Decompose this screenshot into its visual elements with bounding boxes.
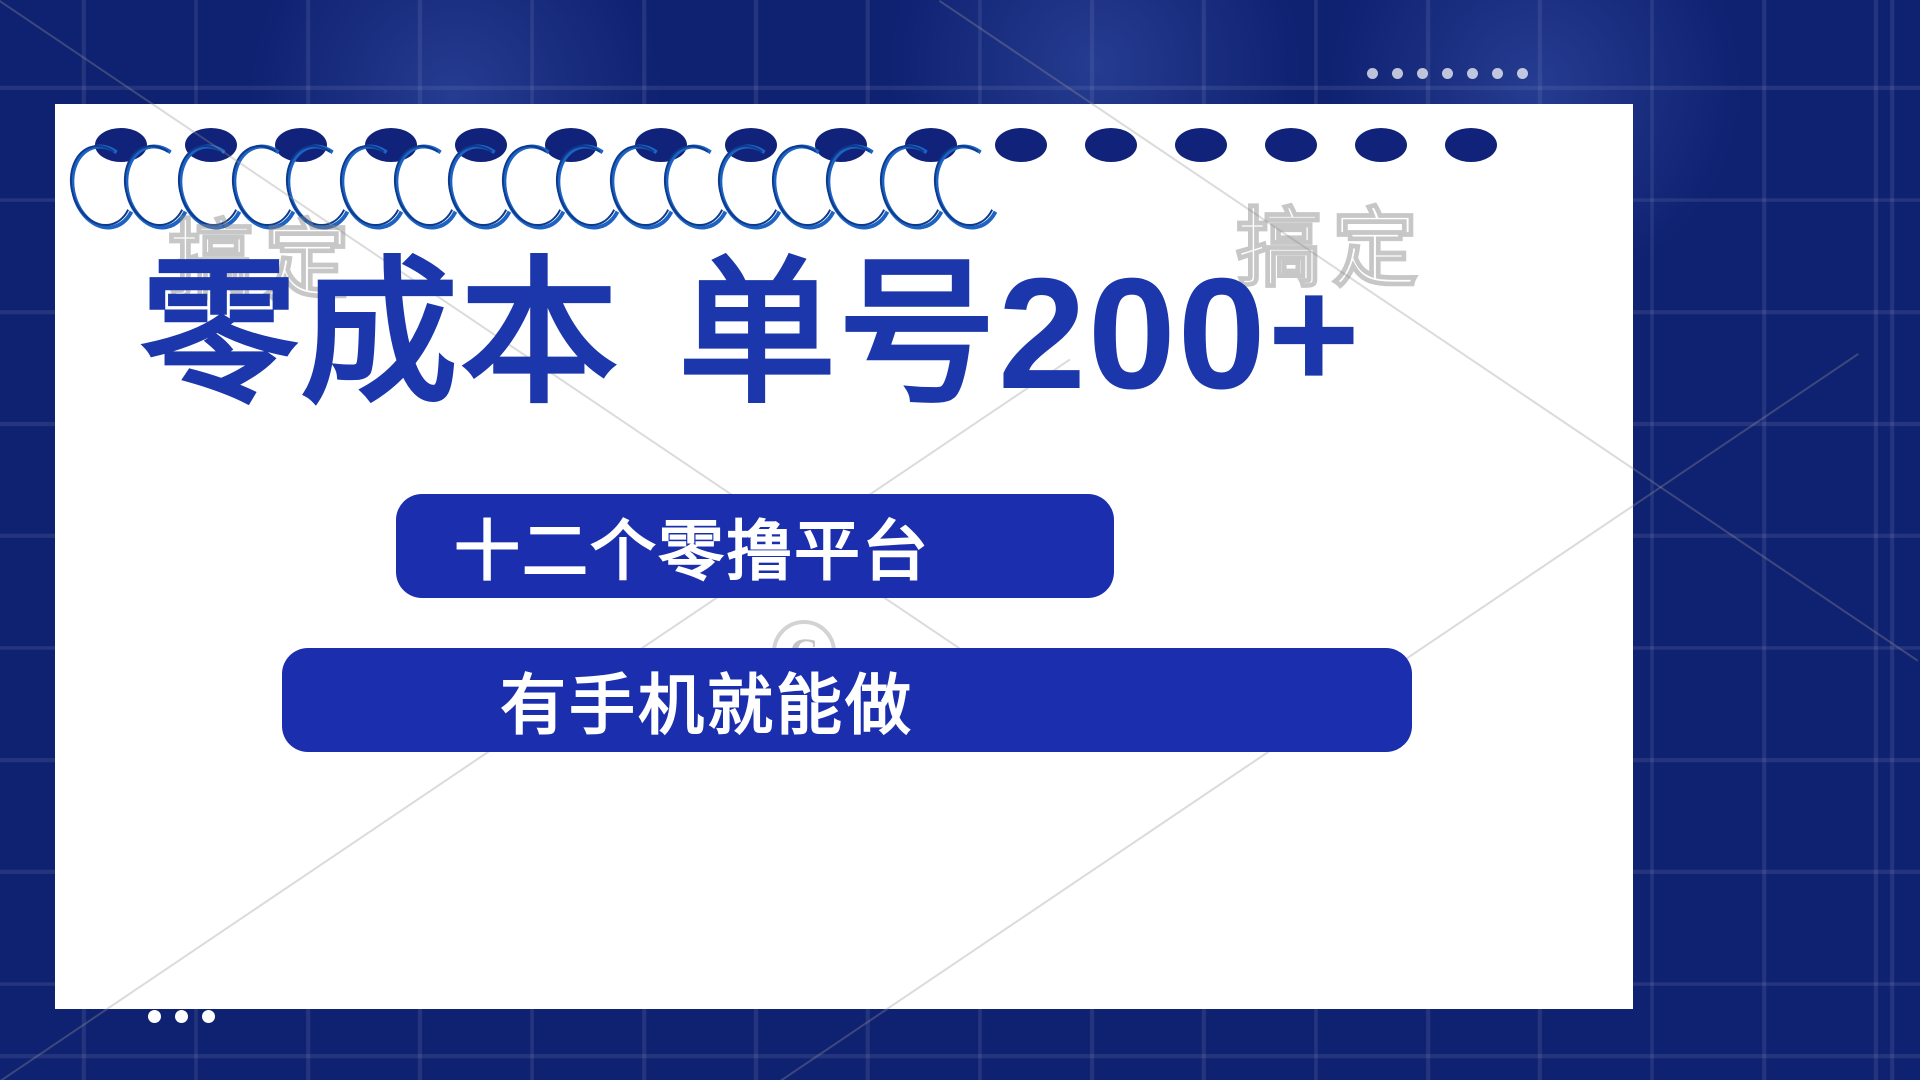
feature-pill-platforms[interactable]: 十二个零撸平台 (396, 494, 1114, 598)
decor-dot (175, 1010, 188, 1023)
decor-dot (1417, 68, 1428, 79)
poster-canvas: 搞定 搞定 C 零成本单号200+ 十二个零撸平台 有手机就能做 (0, 0, 1920, 1080)
decor-dot (1492, 68, 1503, 79)
decor-dot (1442, 68, 1453, 79)
decor-dot (202, 1010, 215, 1023)
decor-dot (1467, 68, 1478, 79)
decor-dot (148, 1010, 161, 1023)
decor-dots-bottom-left (148, 1010, 215, 1023)
decor-dot (1392, 68, 1403, 79)
headline-part-two: 单号200+ (678, 246, 1362, 422)
decor-dot (1367, 68, 1378, 79)
headline-part-one: 零成本 (140, 246, 620, 422)
feature-pill-phone-only[interactable]: 有手机就能做 (282, 648, 1412, 752)
decor-dots-top-right (1367, 68, 1528, 79)
poster-headline: 零成本单号200+ (140, 252, 1460, 418)
decor-dot (1517, 68, 1528, 79)
